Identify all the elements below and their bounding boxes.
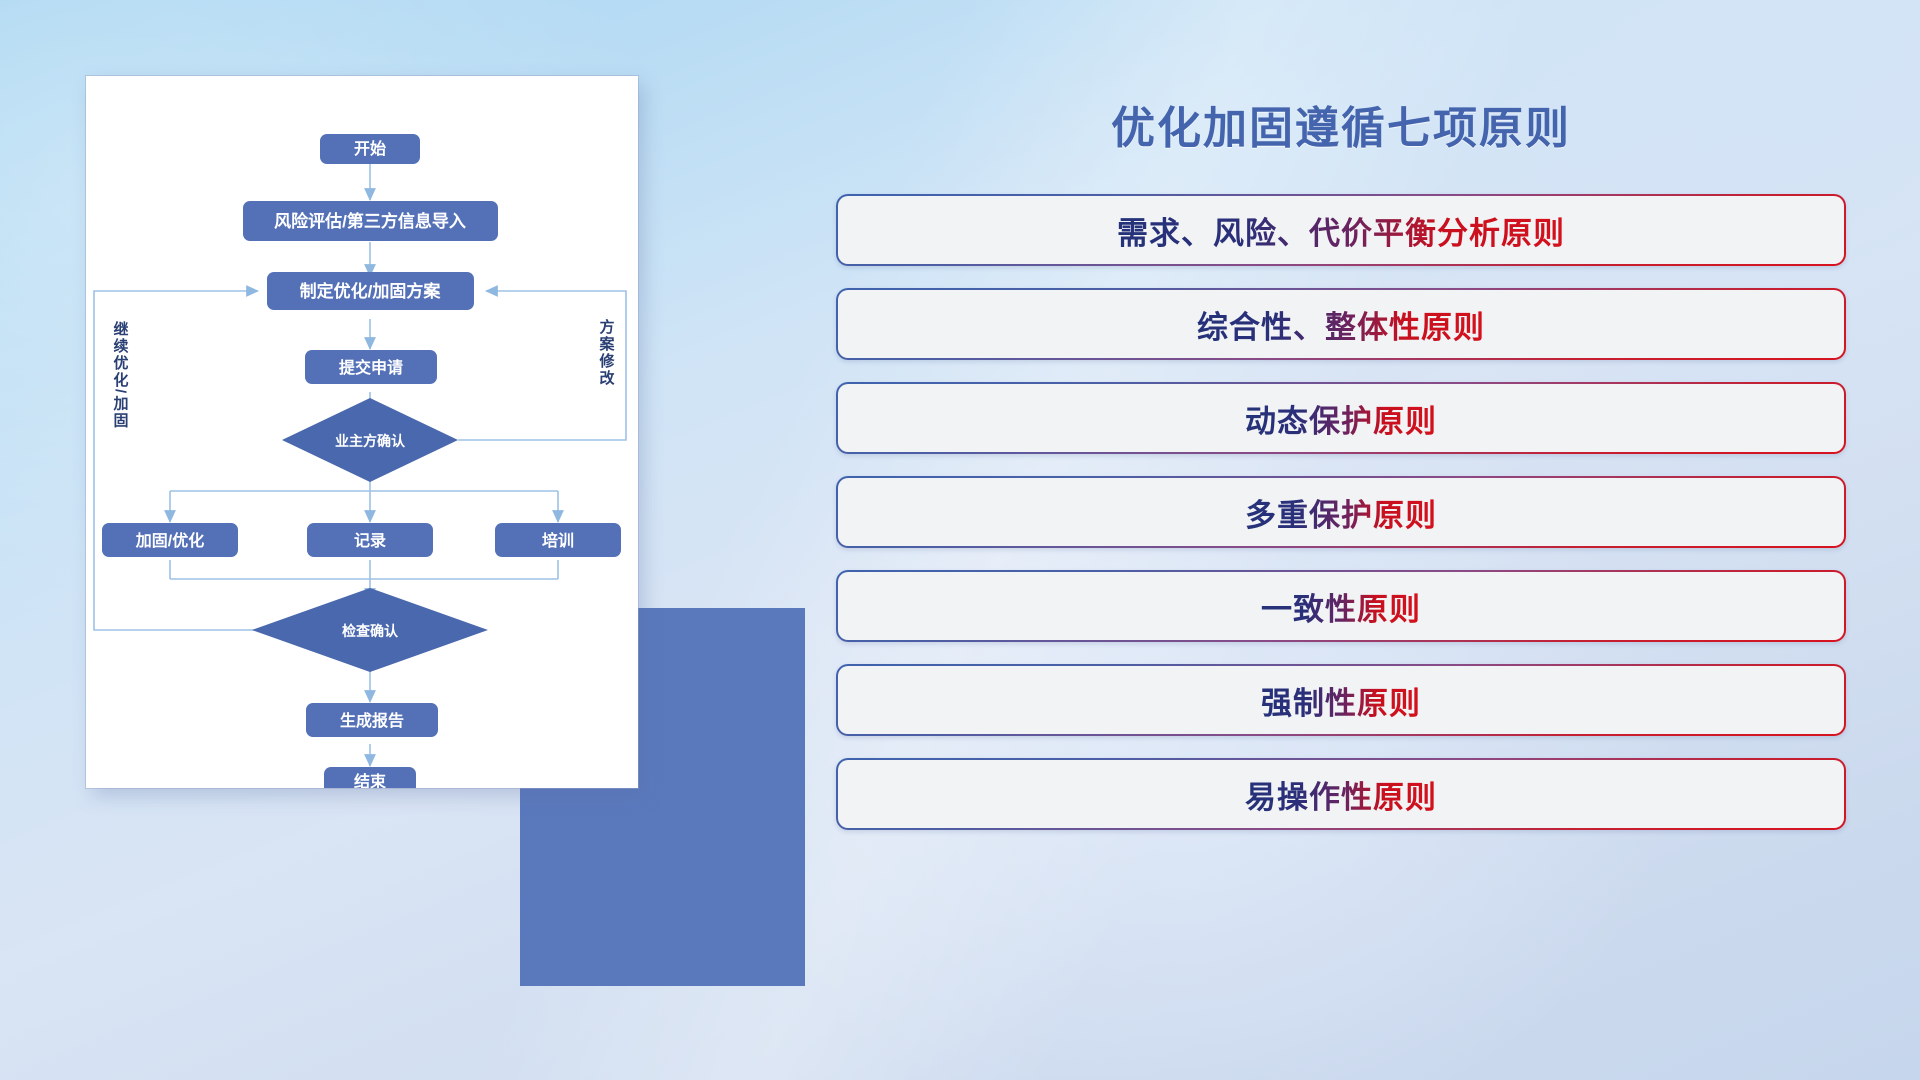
principle-item-3[interactable]: 动态保护原则 — [836, 382, 1846, 454]
principle-item-1[interactable]: 需求、风险、代价平衡分析原则 — [836, 194, 1846, 266]
principle-item-4-label: 多重保护原则 — [1245, 490, 1437, 535]
principle-item-5-label: 一致性原则 — [1261, 584, 1421, 629]
node-risk-assessment-label: 风险评估/第三方信息导入 — [274, 211, 466, 231]
principle-item-7[interactable]: 易操作性原则 — [836, 758, 1846, 830]
principle-item-1-label: 需求、风险、代价平衡分析原则 — [1117, 208, 1565, 253]
node-start-label: 开始 — [354, 139, 386, 158]
principle-item-3-label: 动态保护原则 — [1245, 396, 1437, 441]
node-submit-label: 提交申请 — [339, 358, 403, 377]
node-check-confirm[interactable]: 检查确认 — [252, 588, 488, 672]
node-reinforce[interactable]: 加固/优化 — [102, 523, 238, 557]
node-training[interactable]: 培训 — [495, 523, 621, 557]
principle-item-5[interactable]: 一致性原则 — [836, 570, 1846, 642]
node-plan-label: 制定优化/加固方案 — [300, 281, 442, 301]
node-check-confirm-label: 检查确认 — [342, 623, 399, 639]
node-owner-confirm[interactable]: 业主方确认 — [282, 398, 458, 482]
principle-item-4[interactable]: 多重保护原则 — [836, 476, 1846, 548]
principle-item-4-surface: 多重保护原则 — [838, 478, 1844, 546]
node-plan[interactable]: 制定优化/加固方案 — [267, 272, 474, 310]
edge-label-left-loop: 继续优化/加固 — [112, 320, 130, 429]
flowchart-card: 开始 风险评估/第三方信息导入 制定优化/加固方案 提交申请 业主方确认 加固/ — [86, 76, 638, 788]
principle-item-6[interactable]: 强制性原则 — [836, 664, 1846, 736]
node-end[interactable]: 结束 — [324, 767, 416, 788]
principle-item-7-label: 易操作性原则 — [1245, 772, 1437, 817]
slide-canvas: 开始 风险评估/第三方信息导入 制定优化/加固方案 提交申请 业主方确认 加固/ — [0, 0, 1920, 1080]
node-risk-assessment[interactable]: 风险评估/第三方信息导入 — [243, 201, 498, 241]
node-record-label: 记录 — [354, 532, 386, 550]
principles-panel: 优化加固遵循七项原则 需求、风险、代价平衡分析原则 综合性、整体性原则 动态保护… — [836, 76, 1846, 1016]
principle-item-5-surface: 一致性原则 — [838, 572, 1844, 640]
principle-item-3-surface: 动态保护原则 — [838, 384, 1844, 452]
flowchart-diagram: 开始 风险评估/第三方信息导入 制定优化/加固方案 提交申请 业主方确认 加固/ — [86, 76, 638, 788]
principles-list: 需求、风险、代价平衡分析原则 综合性、整体性原则 动态保护原则 多重保护原则 — [836, 194, 1846, 852]
principle-item-2[interactable]: 综合性、整体性原则 — [836, 288, 1846, 360]
connector-fanout — [170, 479, 558, 522]
page-title: 优化加固遵循七项原则 — [836, 92, 1846, 156]
principle-item-6-surface: 强制性原则 — [838, 666, 1844, 734]
principle-item-7-surface: 易操作性原则 — [838, 760, 1844, 828]
principle-item-2-surface: 综合性、整体性原则 — [838, 290, 1844, 358]
node-record[interactable]: 记录 — [307, 523, 433, 557]
node-report-label: 生成报告 — [340, 711, 404, 730]
principle-item-1-surface: 需求、风险、代价平衡分析原则 — [838, 196, 1844, 264]
node-submit[interactable]: 提交申请 — [305, 350, 437, 384]
node-start[interactable]: 开始 — [320, 134, 420, 164]
node-report[interactable]: 生成报告 — [306, 703, 438, 737]
node-owner-confirm-label: 业主方确认 — [335, 433, 406, 449]
node-reinforce-label: 加固/优化 — [135, 531, 204, 550]
node-end-label: 结束 — [353, 772, 387, 788]
principle-item-6-label: 强制性原则 — [1261, 678, 1421, 723]
principle-item-2-label: 综合性、整体性原则 — [1197, 302, 1485, 347]
edge-label-right-loop: 方案修改 — [598, 318, 616, 387]
node-training-label: 培训 — [542, 531, 574, 550]
